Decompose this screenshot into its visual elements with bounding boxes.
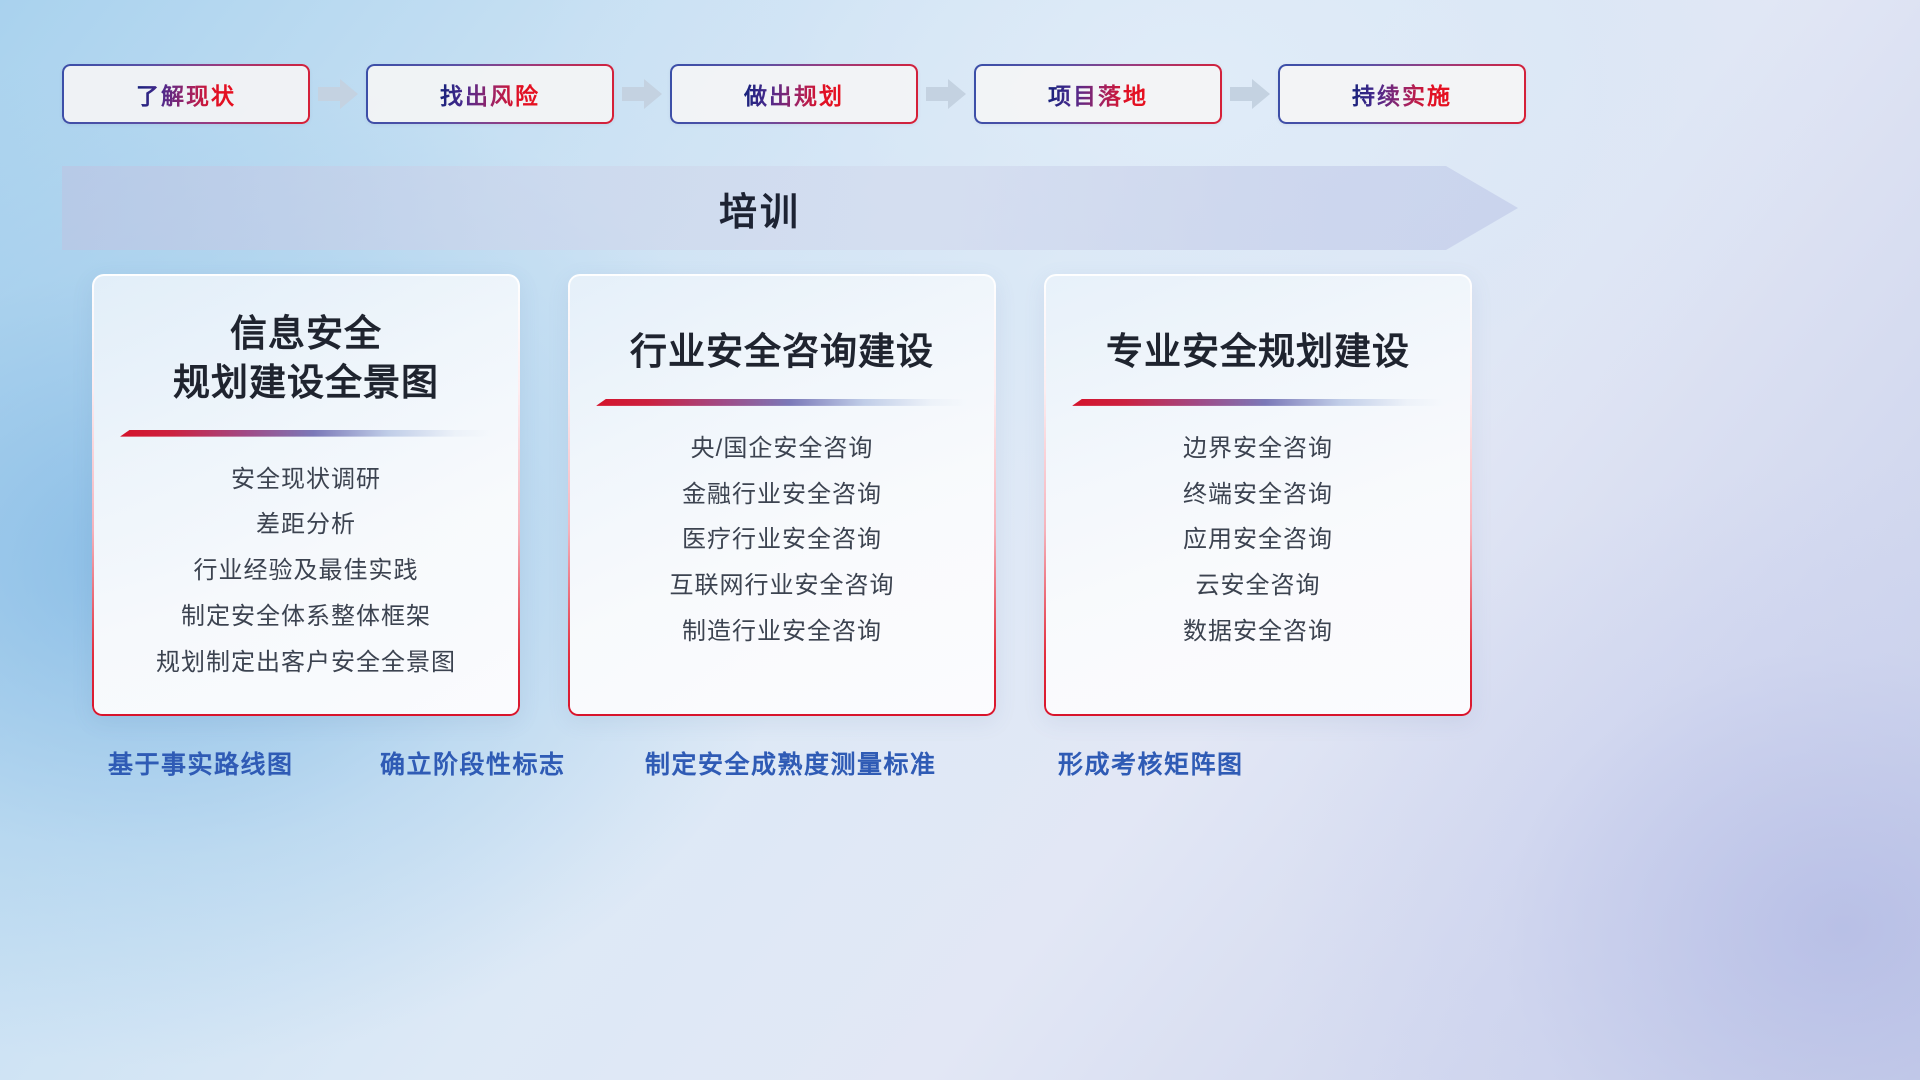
card-divider-0 bbox=[120, 430, 492, 437]
card-inner-2: 专业安全规划建设 边界安全咨询 终端安全咨询 应用安全咨询 云安全咨询 数据安全… bbox=[1044, 274, 1472, 716]
footer-caption-row: 基于事实路线图 确立阶段性标志 制定安全成熟度测量标准 形成考核矩阵图 bbox=[0, 745, 1920, 795]
banner-label: 培训 bbox=[62, 166, 1518, 250]
process-step-row: 了解现状 找出风险 做出规划 bbox=[62, 64, 1512, 124]
step-box-0[interactable]: 了解现状 bbox=[62, 64, 310, 124]
training-banner: 培训 bbox=[62, 166, 1518, 250]
list-item: 金融行业安全咨询 bbox=[682, 478, 882, 513]
list-item: 终端安全咨询 bbox=[1183, 478, 1333, 513]
list-item: 云安全咨询 bbox=[1196, 569, 1321, 604]
list-item: 差距分析 bbox=[256, 508, 356, 543]
card-row: 信息安全 规划建设全景图 安全现状调研 差距分析 行业经验及最佳实践 制定安全体… bbox=[92, 274, 1472, 716]
step-box-2[interactable]: 做出规划 bbox=[670, 64, 918, 124]
list-item: 行业经验及最佳实践 bbox=[194, 554, 419, 589]
step-label-4: 持续实施 bbox=[1352, 77, 1452, 111]
step-wrap-1: 找出风险 bbox=[366, 64, 670, 124]
footer-caption-1: 确立阶段性标志 bbox=[380, 745, 566, 781]
step-box-1[interactable]: 找出风险 bbox=[366, 64, 614, 124]
step-box-3[interactable]: 项目落地 bbox=[974, 64, 1222, 124]
list-item: 数据安全咨询 bbox=[1183, 615, 1333, 650]
card-inner-1: 行业安全咨询建设 央/国企安全咨询 金融行业安全咨询 医疗行业安全咨询 互联网行… bbox=[568, 274, 996, 716]
step-box-4[interactable]: 持续实施 bbox=[1278, 64, 1526, 124]
card-item-list-0: 安全现状调研 差距分析 行业经验及最佳实践 制定安全体系整体框架 规划制定出客户… bbox=[116, 463, 496, 681]
card-title-0: 信息安全 规划建设全景图 bbox=[173, 310, 439, 408]
footer-caption-3: 形成考核矩阵图 bbox=[1058, 745, 1244, 781]
list-item: 安全现状调研 bbox=[231, 463, 381, 498]
list-item: 制定安全体系整体框架 bbox=[181, 600, 431, 635]
step-label-3: 项目落地 bbox=[1048, 77, 1148, 111]
footer-caption-2: 制定安全成熟度测量标准 bbox=[645, 745, 937, 781]
list-item: 制造行业安全咨询 bbox=[682, 615, 882, 650]
step-label-2: 做出规划 bbox=[744, 77, 844, 111]
step-label-0: 了解现状 bbox=[136, 77, 236, 111]
card-item-list-1: 央/国企安全咨询 金融行业安全咨询 医疗行业安全咨询 互联网行业安全咨询 制造行… bbox=[592, 432, 972, 650]
arrow-right-icon bbox=[310, 64, 366, 124]
list-item: 应用安全咨询 bbox=[1183, 523, 1333, 558]
card-item-list-2: 边界安全咨询 终端安全咨询 应用安全咨询 云安全咨询 数据安全咨询 bbox=[1068, 432, 1448, 650]
card-title-2: 专业安全规划建设 bbox=[1106, 328, 1410, 377]
card-divider-2 bbox=[1072, 399, 1444, 406]
card-0[interactable]: 信息安全 规划建设全景图 安全现状调研 差距分析 行业经验及最佳实践 制定安全体… bbox=[92, 274, 520, 716]
step-wrap-0: 了解现状 bbox=[62, 64, 366, 124]
list-item: 互联网行业安全咨询 bbox=[670, 569, 895, 604]
arrow-right-icon bbox=[918, 64, 974, 124]
card-inner-0: 信息安全 规划建设全景图 安全现状调研 差距分析 行业经验及最佳实践 制定安全体… bbox=[92, 274, 520, 716]
step-label-1: 找出风险 bbox=[440, 77, 540, 111]
list-item: 医疗行业安全咨询 bbox=[682, 523, 882, 558]
arrow-right-icon bbox=[614, 64, 670, 124]
list-item: 规划制定出客户安全全景图 bbox=[156, 646, 456, 681]
footer-caption-0: 基于事实路线图 bbox=[108, 745, 294, 781]
card-divider-1 bbox=[596, 399, 968, 406]
step-wrap-4: 持续实施 bbox=[1278, 64, 1526, 124]
step-wrap-2: 做出规划 bbox=[670, 64, 974, 124]
infographic-canvas: 了解现状 找出风险 做出规划 bbox=[0, 0, 1920, 1080]
list-item: 央/国企安全咨询 bbox=[691, 432, 874, 467]
card-1[interactable]: 行业安全咨询建设 央/国企安全咨询 金融行业安全咨询 医疗行业安全咨询 互联网行… bbox=[568, 274, 996, 716]
step-wrap-3: 项目落地 bbox=[974, 64, 1278, 124]
card-title-1: 行业安全咨询建设 bbox=[630, 328, 934, 377]
arrow-right-icon bbox=[1222, 64, 1278, 124]
card-2[interactable]: 专业安全规划建设 边界安全咨询 终端安全咨询 应用安全咨询 云安全咨询 数据安全… bbox=[1044, 274, 1472, 716]
list-item: 边界安全咨询 bbox=[1183, 432, 1333, 467]
